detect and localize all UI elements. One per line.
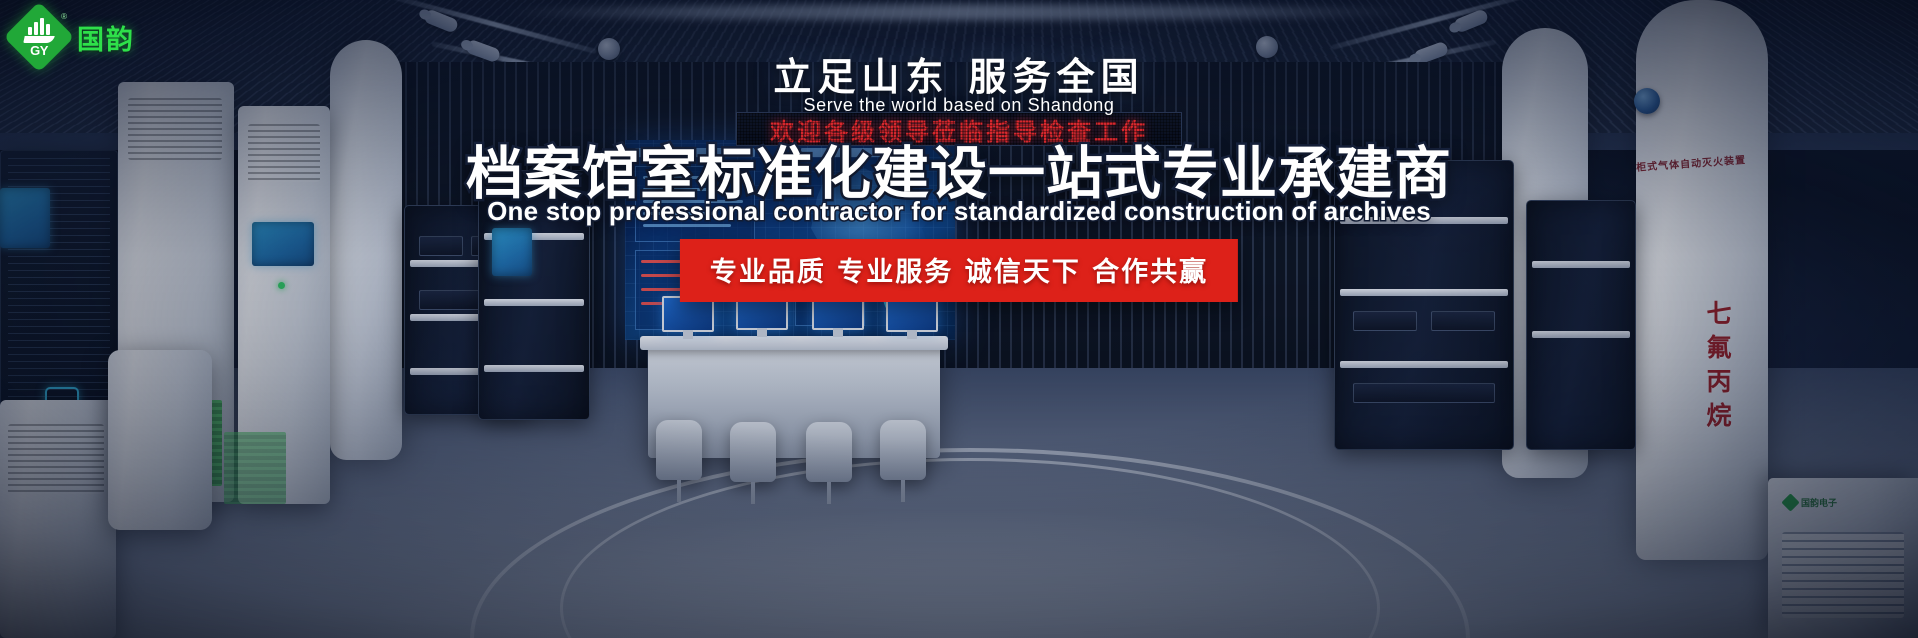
hero-tagline: One stop professional contractor for sta… bbox=[487, 196, 1431, 227]
wall-ac-unit: 国韵电子 bbox=[1768, 478, 1918, 638]
fire-cabinet-vertical-text: 七氟丙烷 bbox=[1699, 300, 1735, 436]
logo-glyph: GY bbox=[24, 18, 54, 57]
cabinet-vents bbox=[8, 424, 104, 494]
hero-subheadline: Serve the world based on Shandong bbox=[803, 95, 1114, 115]
office-chair bbox=[656, 420, 702, 480]
ac-unit-logo: 国韵电子 bbox=[1784, 496, 1837, 509]
green-decal bbox=[224, 432, 286, 504]
ac-logo-diamond-icon bbox=[1781, 493, 1799, 511]
hero-headline: 立足山东 服务全国 bbox=[773, 46, 1144, 101]
logo-swoosh-shape bbox=[23, 36, 54, 43]
ac-unit-brand-label: 国韵电子 bbox=[1801, 496, 1837, 509]
logo-diamond-icon: GY ® bbox=[10, 8, 68, 66]
ac-vent-louvers bbox=[1782, 532, 1904, 618]
archive-box bbox=[1431, 311, 1495, 331]
office-chair bbox=[880, 420, 926, 480]
archive-box bbox=[419, 236, 463, 256]
shelf-plank bbox=[1340, 361, 1508, 368]
slogan-text: 专业品质 专业服务 诚信天下 合作共赢 bbox=[710, 257, 1208, 288]
site-logo[interactable]: GY ® 国韵 bbox=[10, 8, 135, 66]
archive-box bbox=[1353, 383, 1495, 403]
ceiling-light-glow bbox=[499, 4, 1420, 20]
shelf-plank bbox=[484, 299, 584, 306]
shelf-info-screen bbox=[492, 228, 532, 276]
shelf-plank bbox=[484, 365, 584, 372]
tagline-container: One stop professional contractor for sta… bbox=[0, 196, 1918, 227]
registered-mark: ® bbox=[61, 12, 67, 21]
slogan-badge: 专业品质 专业服务 诚信天下 合作共赢 bbox=[680, 239, 1238, 302]
company-name: 国韵 bbox=[77, 18, 135, 57]
archive-shelf-unit bbox=[1526, 200, 1636, 450]
shelf-plank bbox=[1532, 261, 1630, 268]
shelf-plank bbox=[1532, 331, 1630, 338]
shelf-plank bbox=[1340, 289, 1508, 296]
archive-box bbox=[1353, 311, 1417, 331]
office-chair bbox=[730, 422, 776, 482]
subheadline-container: Serve the world based on Shandong bbox=[0, 95, 1918, 116]
office-chair bbox=[806, 422, 852, 482]
logo-initials: GY bbox=[30, 44, 48, 57]
headline-container: 立足山东 服务全国 bbox=[0, 46, 1918, 101]
logo-buildings-icon bbox=[28, 18, 50, 35]
status-led bbox=[278, 282, 285, 289]
ac-control-screen bbox=[252, 222, 314, 266]
mobile-dehumidifier bbox=[108, 350, 212, 530]
